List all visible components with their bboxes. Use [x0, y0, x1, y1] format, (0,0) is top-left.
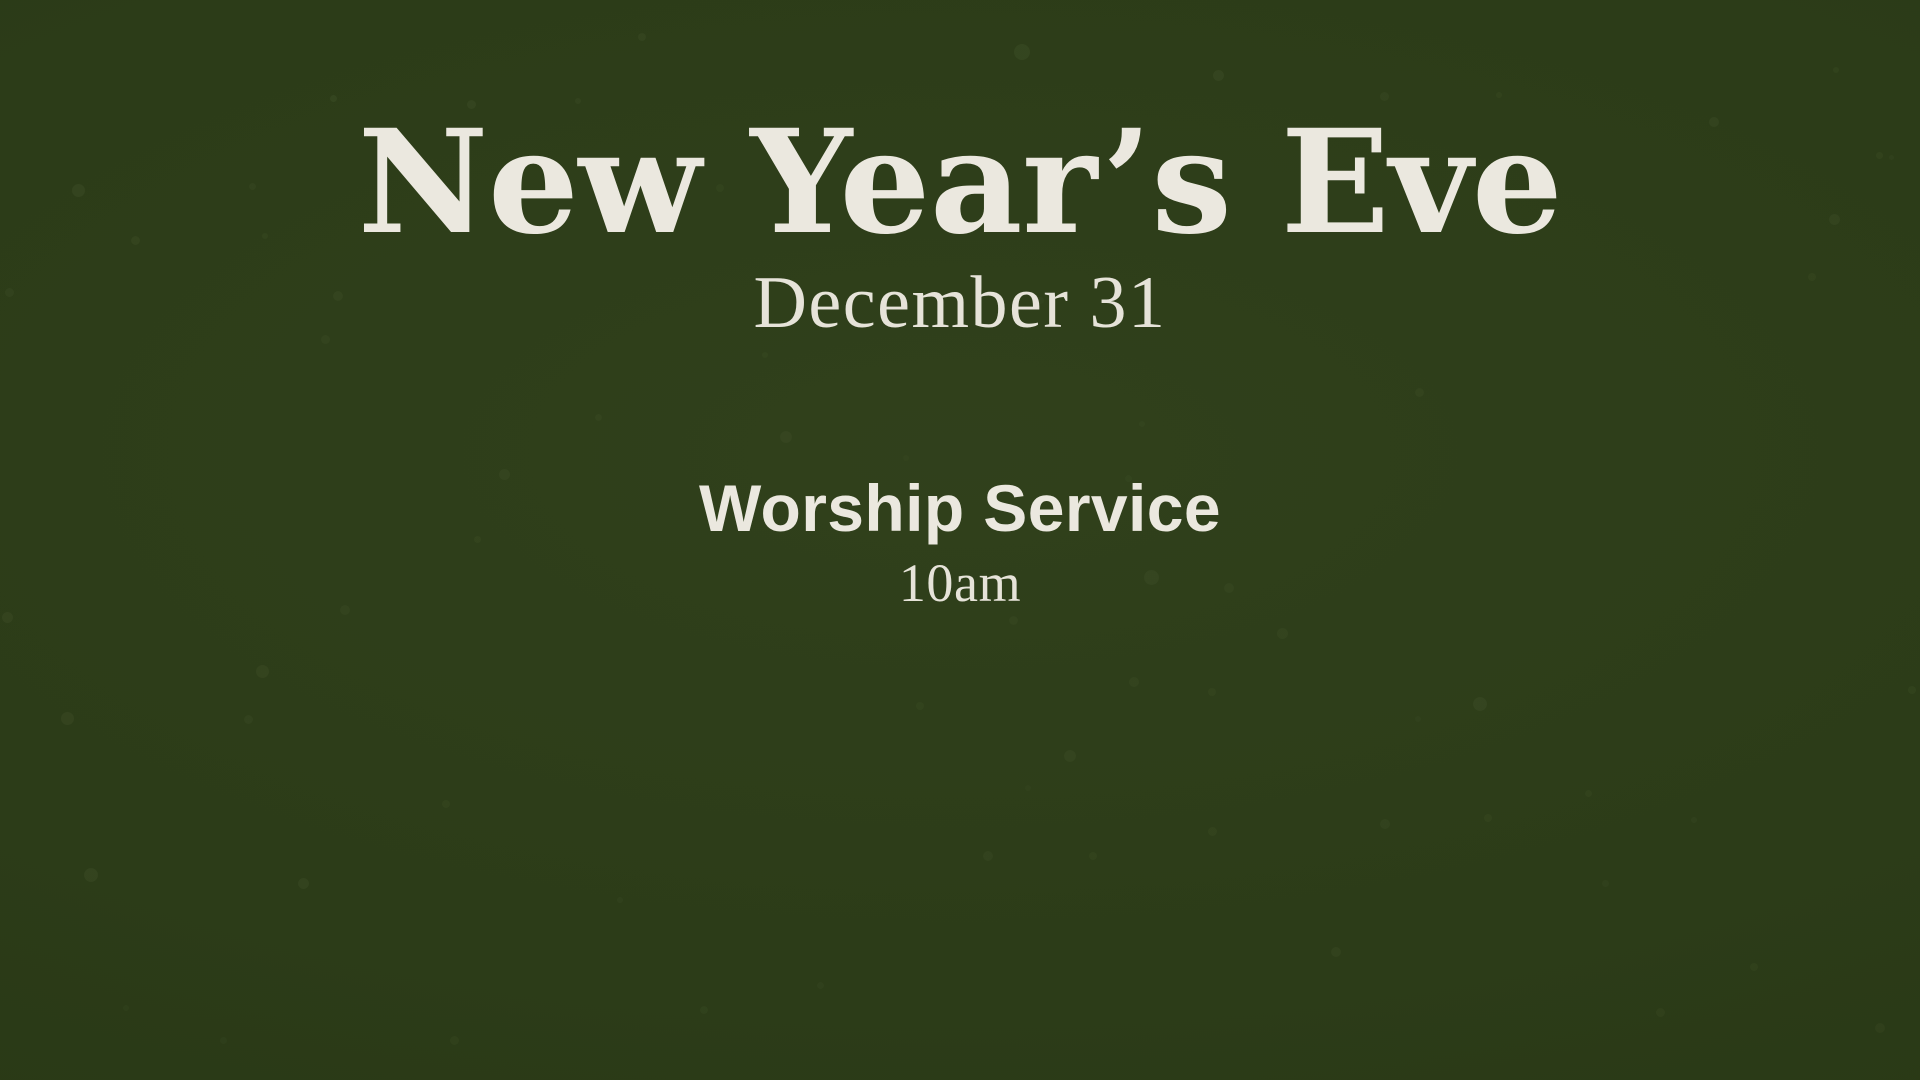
- event-title: New Year’s Eve: [0, 108, 1920, 257]
- event-date: December 31: [0, 263, 1920, 344]
- slide-content: New Year’s Eve December 31 Worship Servi…: [0, 0, 1920, 1080]
- event-slide: New Year’s Eve December 31 Worship Servi…: [0, 0, 1920, 1080]
- service-name: Worship Service: [0, 472, 1920, 546]
- event-heading-group: New Year’s Eve December 31: [0, 0, 1920, 344]
- service-time: 10am: [0, 554, 1920, 613]
- service-heading-group: Worship Service 10am: [0, 344, 1920, 613]
